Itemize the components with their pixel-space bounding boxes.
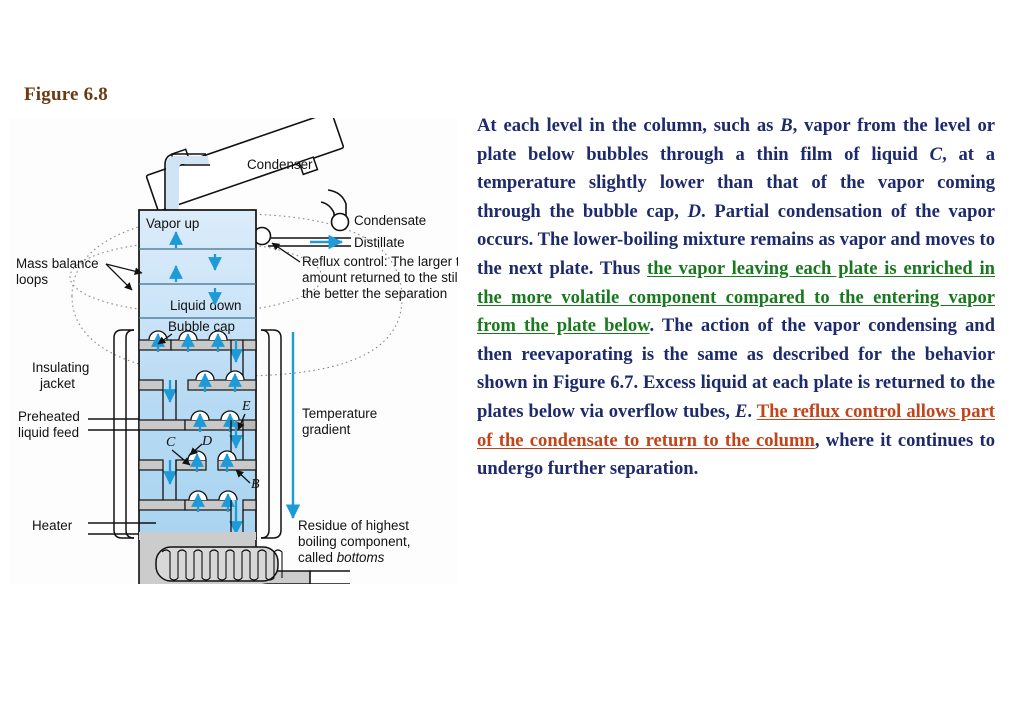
reflux-label-line1: Reflux control: The larger the: [302, 254, 458, 269]
temperature-gradient-label-line2: gradient: [302, 422, 351, 437]
mass-balance-label-line1: Mass balance: [16, 256, 99, 271]
svg-text:E: E: [241, 399, 251, 414]
text-italic-d: D: [688, 201, 701, 222]
preheated-feed-label-line1: Preheated: [18, 409, 80, 424]
residue-label-line2: boiling component,: [298, 534, 410, 549]
condenser-label: Condenser: [247, 157, 313, 172]
reflux-label-line2: amount returned to the still,: [302, 270, 458, 285]
text-italic-c: C: [930, 144, 942, 165]
residue-label-line3: called bottoms: [298, 550, 385, 565]
reflux-label-line3: the better the separation: [302, 286, 447, 301]
heater-coil: [156, 547, 282, 581]
temperature-gradient-label-line1: Temperature: [302, 406, 377, 421]
heater-label: Heater: [32, 518, 73, 533]
bubble-cap-label: Bubble cap: [168, 319, 235, 334]
svg-text:B: B: [251, 477, 260, 492]
text-seg-6: .: [747, 401, 756, 422]
text-italic-e: E: [735, 401, 747, 422]
insulating-jacket-label-line2: jacket: [39, 376, 75, 391]
page-root: Figure 6.8: [0, 0, 1023, 708]
preheated-feed-label-line2: liquid feed: [18, 425, 79, 440]
text-italic-b: B: [780, 115, 792, 136]
mass-balance-label-line2: loops: [16, 272, 48, 287]
vapor-up-label: Vapor up: [146, 216, 199, 231]
body-paragraph: At each level in the column, such as B, …: [477, 112, 995, 484]
svg-text:C: C: [166, 435, 176, 450]
figure-title: Figure 6.8: [24, 84, 108, 106]
condensate-valve: [332, 214, 349, 231]
text-seg-1: At each level in the column, such as: [477, 115, 780, 136]
distillate-label: Distillate: [354, 235, 405, 250]
insulating-jacket-label-line1: Insulating: [32, 360, 89, 375]
svg-text:D: D: [201, 434, 212, 449]
residue-label-line1: Residue of highest: [298, 518, 409, 533]
figure-image: Condenser Condensate Distillate: [10, 118, 458, 584]
liquid-down-label: Liquid down: [170, 298, 241, 313]
condensate-label: Condensate: [354, 213, 426, 228]
